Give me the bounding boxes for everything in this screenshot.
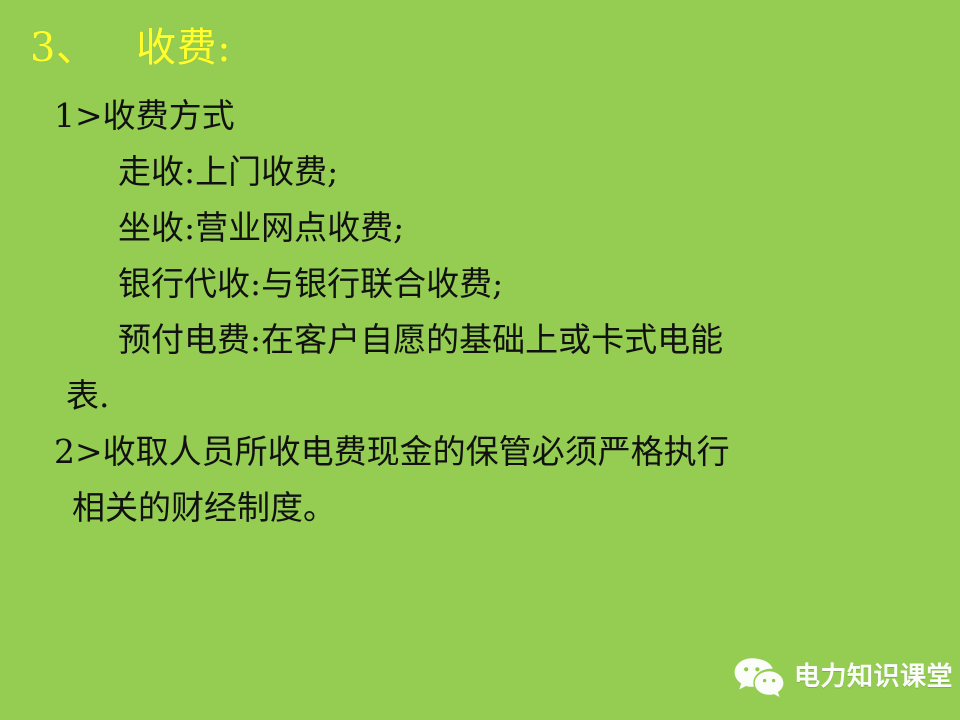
body-line-item-2: 2>收取人员所收电费现金的保管必须严格执行 [0,424,960,480]
body-line-sub-zoushou: 走收:上门收费; [0,144,960,200]
watermark: 电力知识课堂 [733,650,951,704]
slide-body: 1>收费方式 走收:上门收费; 坐收:营业网点收费; 银行代收:与银行联合收费;… [0,88,960,536]
presentation-slide: 3、 收费: 1>收费方式 走收:上门收费; 坐收:营业网点收费; 银行代收:与… [0,0,960,720]
watermark-label: 电力知识课堂 [794,662,953,692]
body-line-sub-yufudianfei: 预付电费:在客户自愿的基础上或卡式电能 [0,312,960,368]
body-line-item-2-continued: 相关的财经制度。 [0,480,960,536]
wechat-logo-icon [733,656,785,698]
body-line-sub-zuoshou: 坐收:营业网点收费; [0,200,960,256]
body-line-sub-yinhangdaishou: 银行代收:与银行联合收费; [0,256,960,312]
body-line-sub-yufudianfei-continued: 表. [0,368,960,424]
slide-title: 3、 收费: [30,24,231,72]
body-line-item-1: 1>收费方式 [0,88,960,144]
